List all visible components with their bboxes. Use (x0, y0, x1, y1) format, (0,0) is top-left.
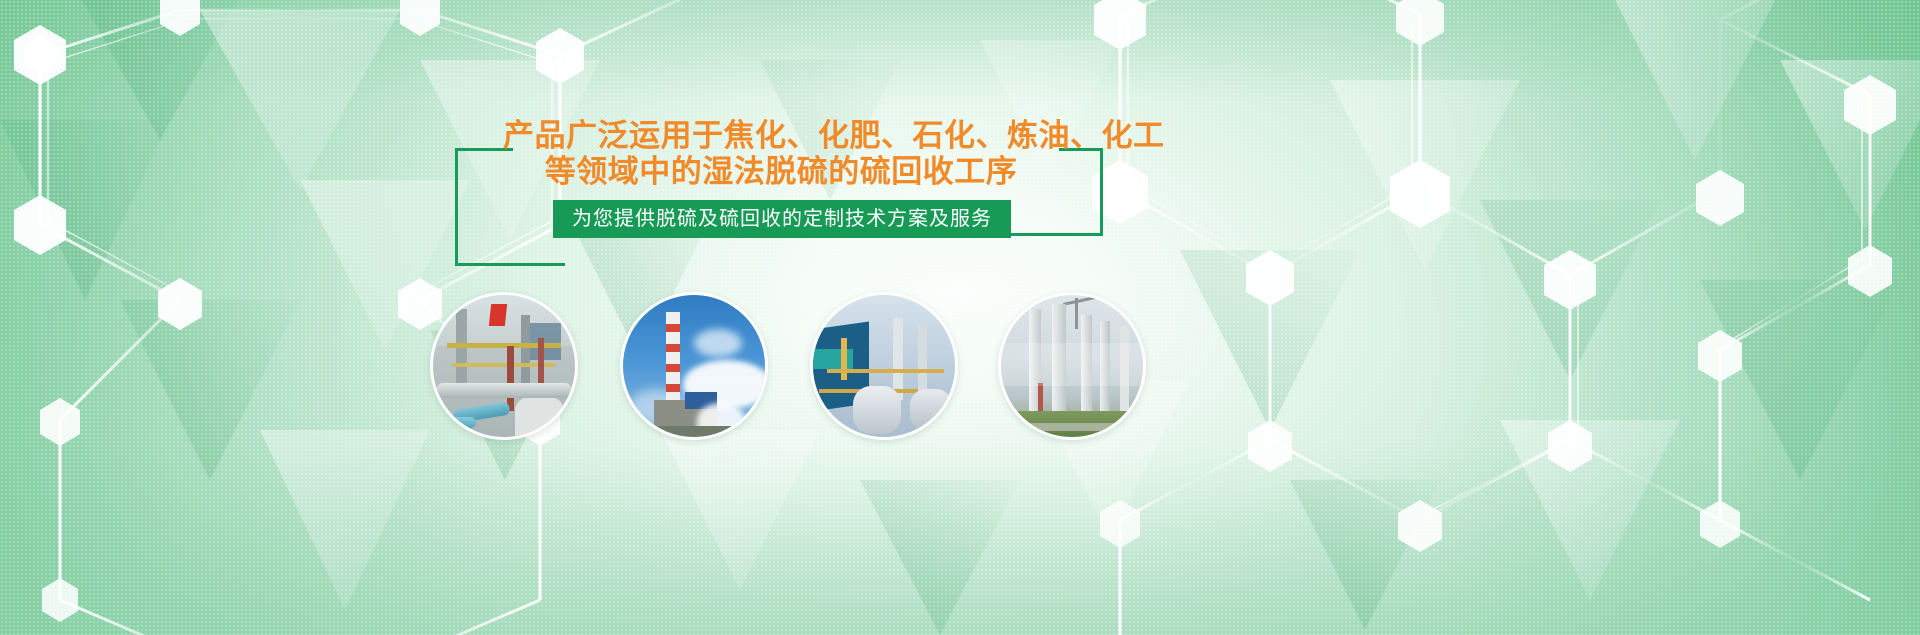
subtitle-text: 为您提供脱硫及硫回收的定制技术方案及服务 (572, 200, 992, 238)
photo-chimney-stack (620, 292, 768, 440)
photo-refinery-towers (998, 292, 1146, 440)
promo-banner: 产品广泛运用于焦化、化肥、石化、炼油、化工 等领域中的湿法脱硫的硫回收工序 为您… (0, 0, 1920, 635)
bracket-bottom-left-rule (455, 263, 565, 266)
headline-block: 产品广泛运用于焦化、化肥、石化、炼油、化工 等领域中的湿法脱硫的硫回收工序 (455, 118, 1103, 266)
headline-line-2: 等领域中的湿法脱硫的硫回收工序 (503, 154, 1059, 190)
subtitle-bar: 为您提供脱硫及硫回收的定制技术方案及服务 (553, 200, 1011, 238)
bracket-left-vertical (455, 148, 458, 266)
photo-circle-row (430, 292, 1146, 442)
bracket-right-vertical (1100, 148, 1103, 236)
photo-offshore-platform (810, 292, 958, 440)
photo-chimney-stack-image (623, 295, 765, 437)
photo-piping-plant (430, 292, 578, 440)
photo-refinery-towers-image (1001, 295, 1143, 437)
photo-piping-plant-image (433, 295, 575, 437)
photo-offshore-platform-image (813, 295, 955, 437)
headline-text: 产品广泛运用于焦化、化肥、石化、炼油、化工 等领域中的湿法脱硫的硫回收工序 (503, 118, 1059, 190)
headline-line-1: 产品广泛运用于焦化、化肥、石化、炼油、化工 (503, 118, 1059, 154)
bracket-bottom-right-rule (1011, 233, 1103, 236)
